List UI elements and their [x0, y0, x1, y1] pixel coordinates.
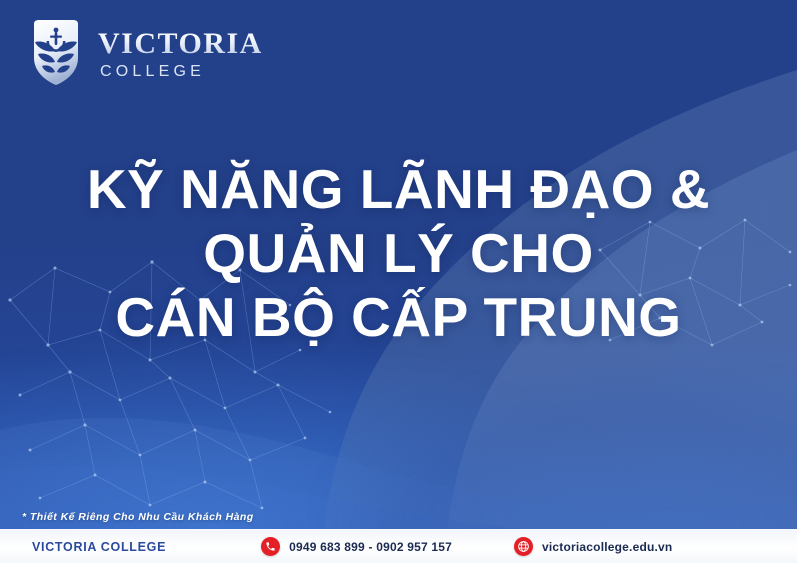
logo-wordmark: VICTORIA COLLEGE	[98, 26, 263, 80]
footer-bar: VICTORIA COLLEGE 0949 683 899 - 0902 957…	[0, 529, 797, 563]
title-line-3: CÁN BỘ CẤP TRUNG	[40, 286, 757, 350]
footer-phone[interactable]: 0949 683 899 - 0902 957 157	[261, 537, 452, 556]
logo-name-secondary: COLLEGE	[98, 64, 263, 80]
title-line-1: KỸ NĂNG LÃNH ĐẠO &	[40, 158, 757, 222]
phone-icon	[261, 537, 280, 556]
footer-website[interactable]: victoriacollege.edu.vn	[514, 537, 672, 556]
footer-brand: VICTORIA COLLEGE	[32, 540, 166, 554]
globe-icon	[514, 537, 533, 556]
promo-banner: VICTORIA COLLEGE KỸ NĂNG LÃNH ĐẠO & QUẢN…	[0, 0, 797, 563]
footnote-text: * Thiết Kế Riêng Cho Nhu Cầu Khách Hàng	[22, 511, 254, 523]
title-line-2: QUẢN LÝ CHO	[40, 222, 757, 286]
logo-name-primary: VICTORIA	[98, 29, 263, 59]
logo: VICTORIA COLLEGE	[26, 18, 263, 88]
footer-website-text: victoriacollege.edu.vn	[542, 540, 672, 554]
footer-phone-text: 0949 683 899 - 0902 957 157	[289, 540, 452, 554]
shield-anchor-leaves-icon	[26, 18, 86, 88]
page-title: KỸ NĂNG LÃNH ĐẠO & QUẢN LÝ CHO CÁN BỘ CẤ…	[0, 158, 797, 349]
